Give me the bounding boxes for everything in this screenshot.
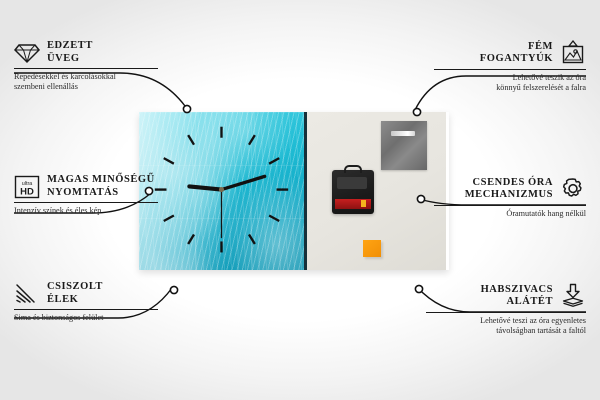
gear-icon <box>560 176 586 202</box>
desc-line-1: Óramutatók hang nélkül <box>434 209 586 219</box>
foam-pad-photo <box>363 240 381 257</box>
desc-line-2: szembeni ellenállás <box>14 82 158 92</box>
foam-pad-icon <box>560 283 586 309</box>
hotspot-csiszolt-elek[interactable] <box>170 286 177 293</box>
feature-header: CSENDES ÓRA MECHANIZMUS <box>434 176 586 202</box>
feature-description: Sima és biztonságos felület <box>14 313 158 323</box>
title-line-1: HABSZIVACS <box>481 284 553 297</box>
feature-description: Óramutatók hang nélkül <box>434 209 586 219</box>
clock-panel <box>139 112 307 270</box>
feature-header: FÉM FOGANTYÚK <box>434 40 586 66</box>
title-line-2: ÉLEK <box>47 294 103 307</box>
feature-title: EDZETT ÜVEG <box>47 40 93 65</box>
feature-header: HABSZIVACS ALÁTÉT <box>426 283 586 309</box>
ultra-hd-icon: ultra HD <box>14 175 40 199</box>
feature-habszivacs-alatet[interactable]: HABSZIVACS ALÁTÉT Lehetővé teszi az óra … <box>426 283 586 337</box>
diamond-icon <box>14 42 40 64</box>
feature-title: MAGAS MINŐSÉGŰ NYOMTATÁS <box>47 174 155 199</box>
desc-line-1: Sima és biztonságos felület <box>14 313 158 323</box>
feature-description: Lehetővé teszik az óra könnyű felszerelé… <box>434 73 586 94</box>
feature-description: Intenzív színek és éles kép <box>14 206 158 216</box>
title-line-2: ÜVEG <box>47 53 93 66</box>
metal-hanger-photo <box>381 121 427 170</box>
divider <box>14 68 158 69</box>
svg-text:HD: HD <box>20 186 34 197</box>
desc-line-2: távolságban tartását a faltól <box>426 326 586 336</box>
title-line-1: CSISZOLT <box>47 281 103 294</box>
title-line-1: MAGAS MINŐSÉGŰ <box>47 174 155 187</box>
divider <box>14 202 158 203</box>
divider <box>434 205 586 206</box>
title-line-2: FOGANTYÚK <box>480 53 553 66</box>
title-line-1: CSENDES ÓRA <box>465 177 553 190</box>
beveled-edges-icon <box>14 283 40 305</box>
title-line-2: NYOMTATÁS <box>47 187 155 200</box>
feature-description: Lehetővé teszi az óra egyenletes távolsá… <box>426 316 586 337</box>
mechanism-loop <box>344 165 362 173</box>
mechanism-label <box>335 199 371 209</box>
title-line-1: FÉM <box>480 41 553 54</box>
desc-line-1: Lehetővé teszik az óra <box>434 73 586 83</box>
divider <box>426 312 586 313</box>
feature-description: Repedésekkel és karcolásokkal szembeni e… <box>14 72 158 93</box>
feature-title: CSISZOLT ÉLEK <box>47 281 103 306</box>
feature-header: EDZETT ÜVEG <box>14 40 158 65</box>
feature-edzett-uveg[interactable]: EDZETT ÜVEG Repedésekkel és karcolásokka… <box>14 40 158 93</box>
title-line-1: EDZETT <box>47 40 93 53</box>
feature-magas-minosegu-nyomtatas[interactable]: ultra HD MAGAS MINŐSÉGŰ NYOMTATÁS Intenz… <box>14 174 158 216</box>
title-line-2: MECHANIZMUS <box>465 189 553 202</box>
desc-line-1: Repedésekkel és karcolásokkal <box>14 72 158 82</box>
hotspot-habszivacs[interactable] <box>415 285 422 292</box>
feature-csendes-ora-mechanizmus[interactable]: CSENDES ÓRA MECHANIZMUS Óramutatók hang … <box>434 176 586 219</box>
desc-line-2: könnyű felszerelését a falra <box>434 83 586 93</box>
feature-title: FÉM FOGANTYÚK <box>480 41 553 66</box>
clock-mechanism-photo <box>332 170 374 214</box>
divider <box>14 309 158 310</box>
feature-header: CSISZOLT ÉLEK <box>14 281 158 306</box>
mechanism-slot <box>337 177 367 189</box>
picture-hanger-icon <box>560 40 586 66</box>
feature-header: ultra HD MAGAS MINŐSÉGŰ NYOMTATÁS <box>14 174 158 199</box>
title-line-2: ALÁTÉT <box>481 296 553 309</box>
feature-fem-fogantyuk[interactable]: FÉM FOGANTYÚK Lehetővé teszik az óra kön… <box>434 40 586 94</box>
product-image <box>139 112 449 270</box>
infographic-canvas: EDZETT ÜVEG Repedésekkel és karcolásokka… <box>0 0 600 400</box>
feature-title: CSENDES ÓRA MECHANIZMUS <box>465 177 553 202</box>
desc-line-1: Intenzív színek és éles kép <box>14 206 158 216</box>
clock-hands <box>189 176 264 237</box>
divider <box>434 69 586 70</box>
feature-csiszolt-elek[interactable]: CSISZOLT ÉLEK Sima és biztonságos felüle… <box>14 281 158 323</box>
desc-line-1: Lehetővé teszi az óra egyenletes <box>426 316 586 326</box>
clock-face <box>139 112 304 267</box>
feature-title: HABSZIVACS ALÁTÉT <box>481 284 553 309</box>
accessories-panel <box>307 112 446 270</box>
